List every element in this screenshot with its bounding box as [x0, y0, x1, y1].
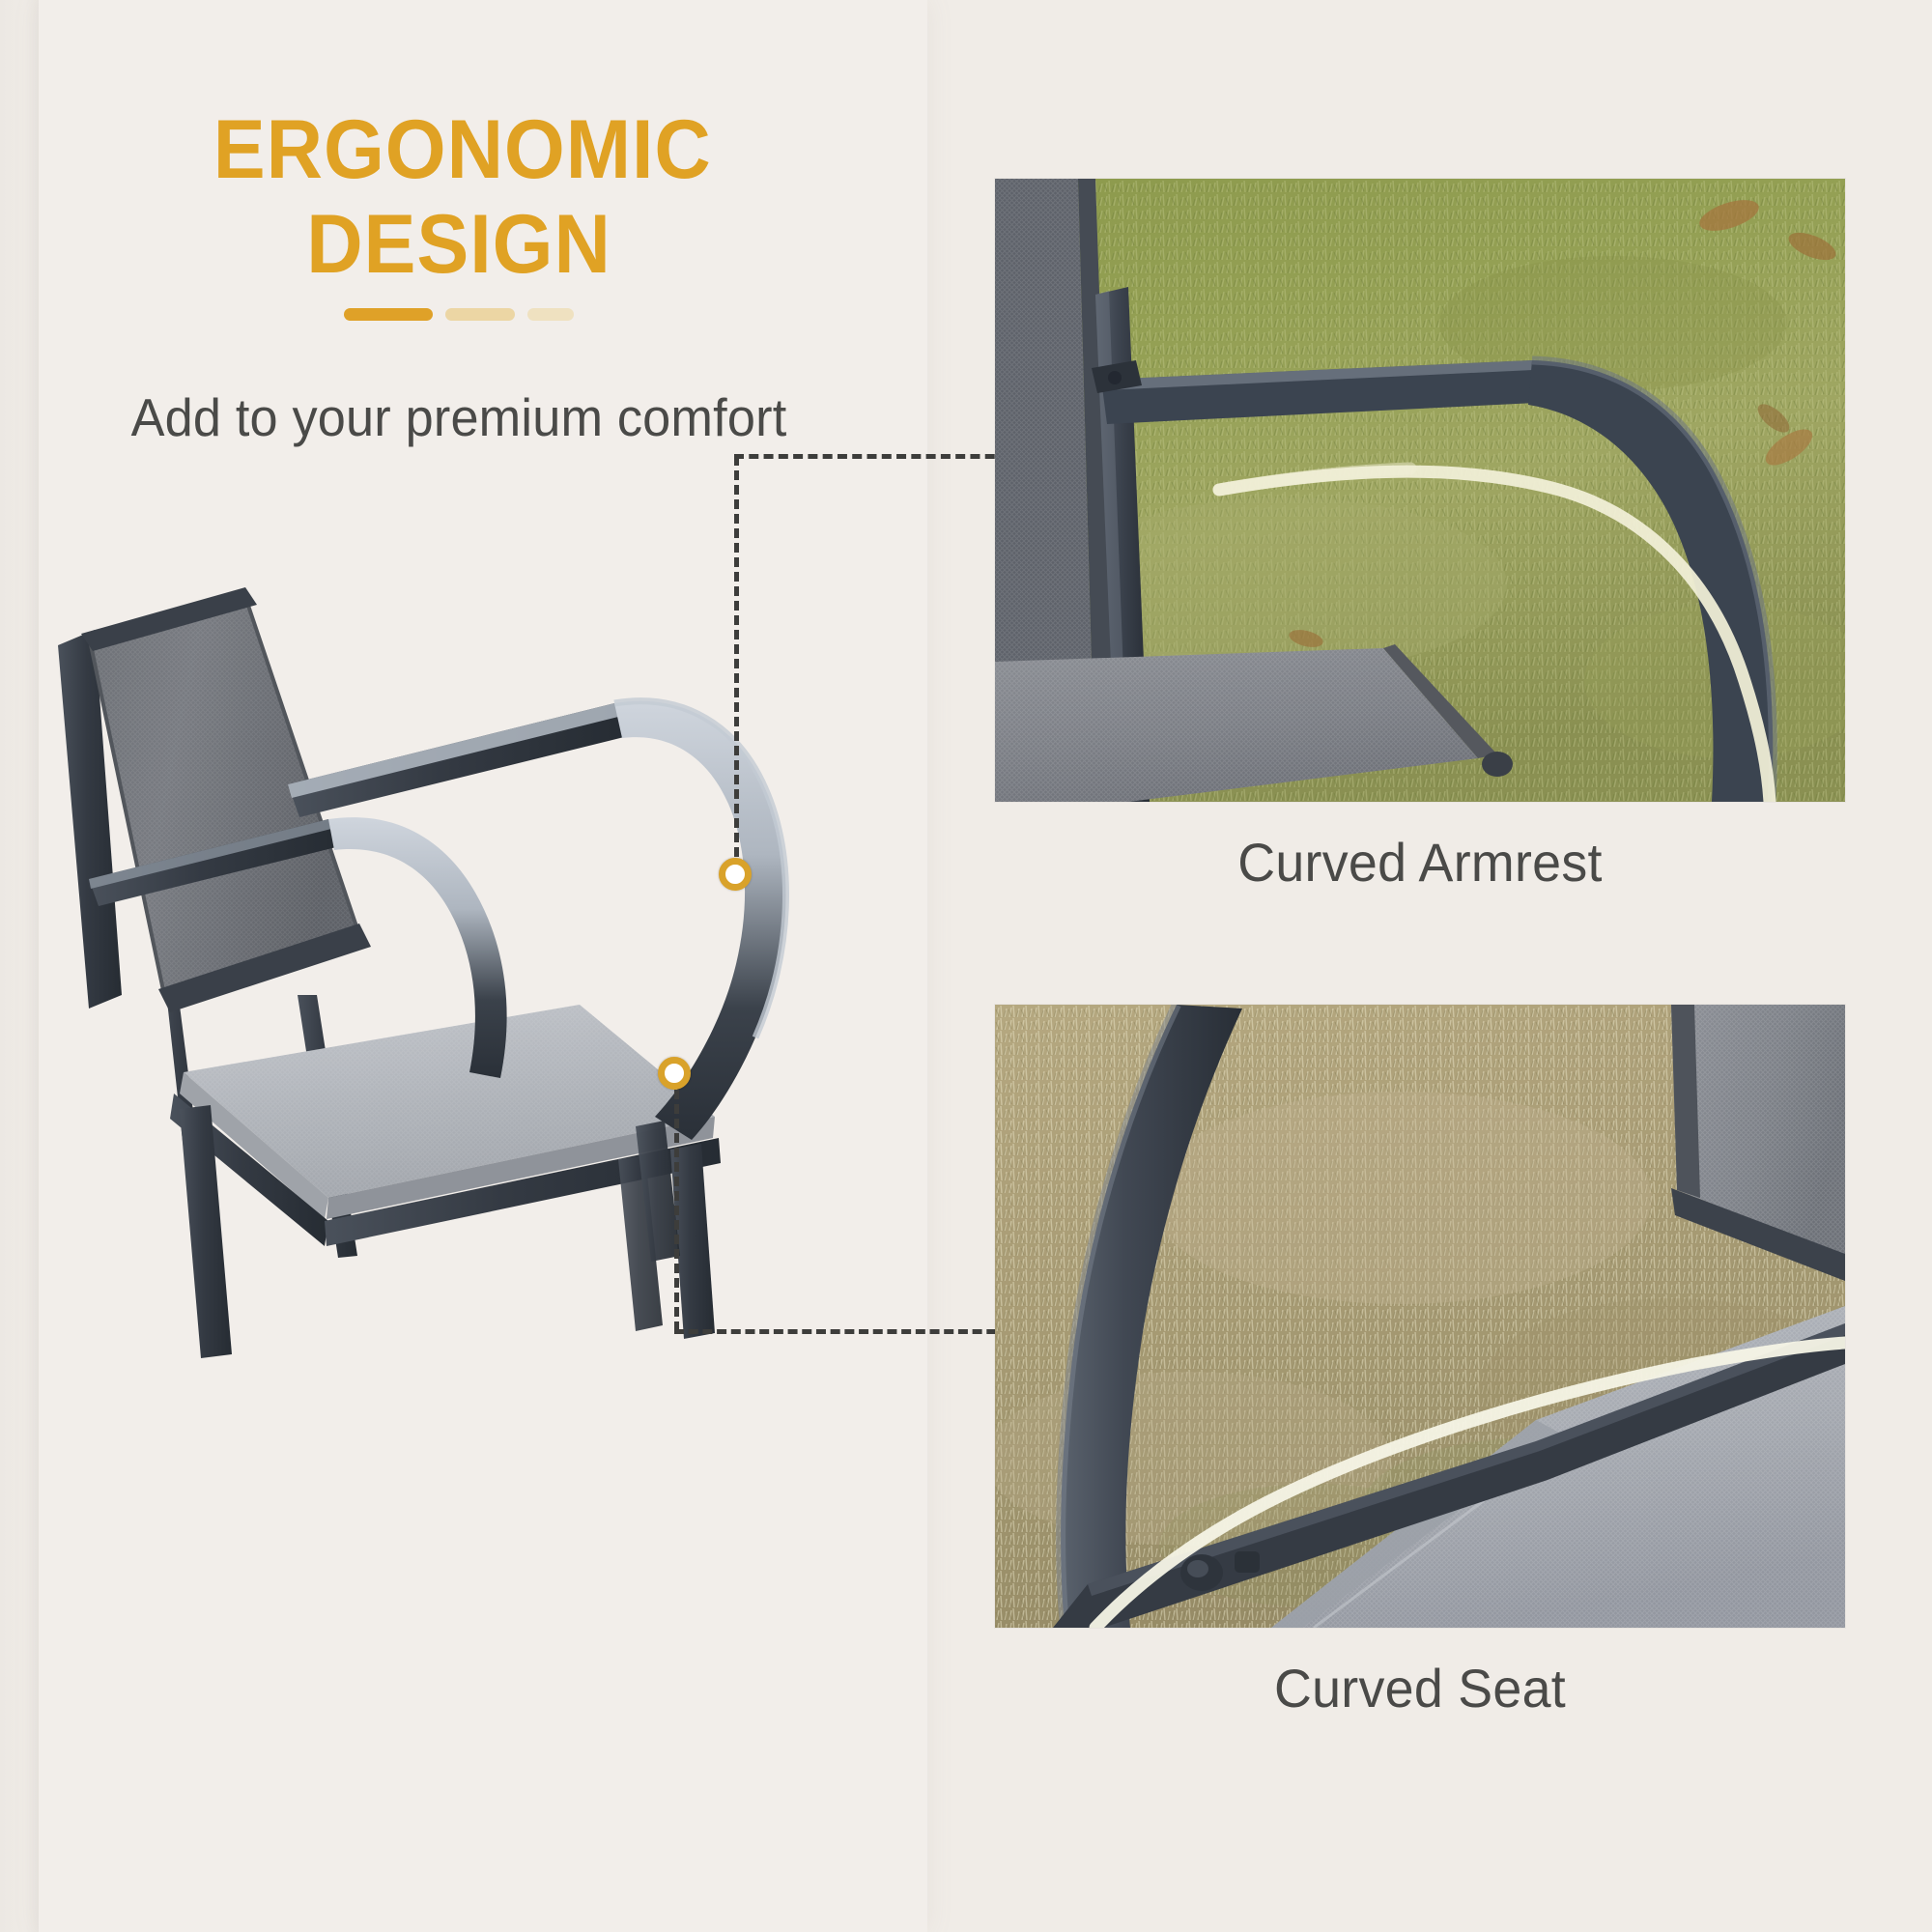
armrest-marker-dot[interactable]: [719, 858, 752, 891]
callout-card-seat: Curved Seat: [995, 1005, 1845, 1719]
dash-primary: [344, 308, 433, 321]
caption-curved-seat: Curved Seat: [1012, 1657, 1829, 1719]
product-hero-image: [39, 580, 811, 1372]
armrest-closeup-photo: [995, 179, 1845, 802]
seat-closeup-photo: [995, 1005, 1845, 1628]
product-feature-poster: ERGONOMIC DESIGN Add to your premium com…: [0, 0, 1932, 1932]
seat-marker-dot[interactable]: [658, 1057, 691, 1090]
callout-card-armrest: Curved Armrest: [995, 179, 1845, 894]
heading-line-1: ERGONOMIC: [82, 108, 836, 193]
dash-secondary: [445, 308, 515, 321]
heading-line-2: DESIGN: [82, 203, 836, 288]
dash-tertiary: [527, 308, 574, 321]
heading-block: ERGONOMIC DESIGN: [58, 108, 860, 321]
subtitle-text: Add to your premium comfort: [78, 386, 840, 448]
caption-curved-armrest: Curved Armrest: [1012, 831, 1829, 894]
decorative-dashes: [58, 308, 860, 321]
